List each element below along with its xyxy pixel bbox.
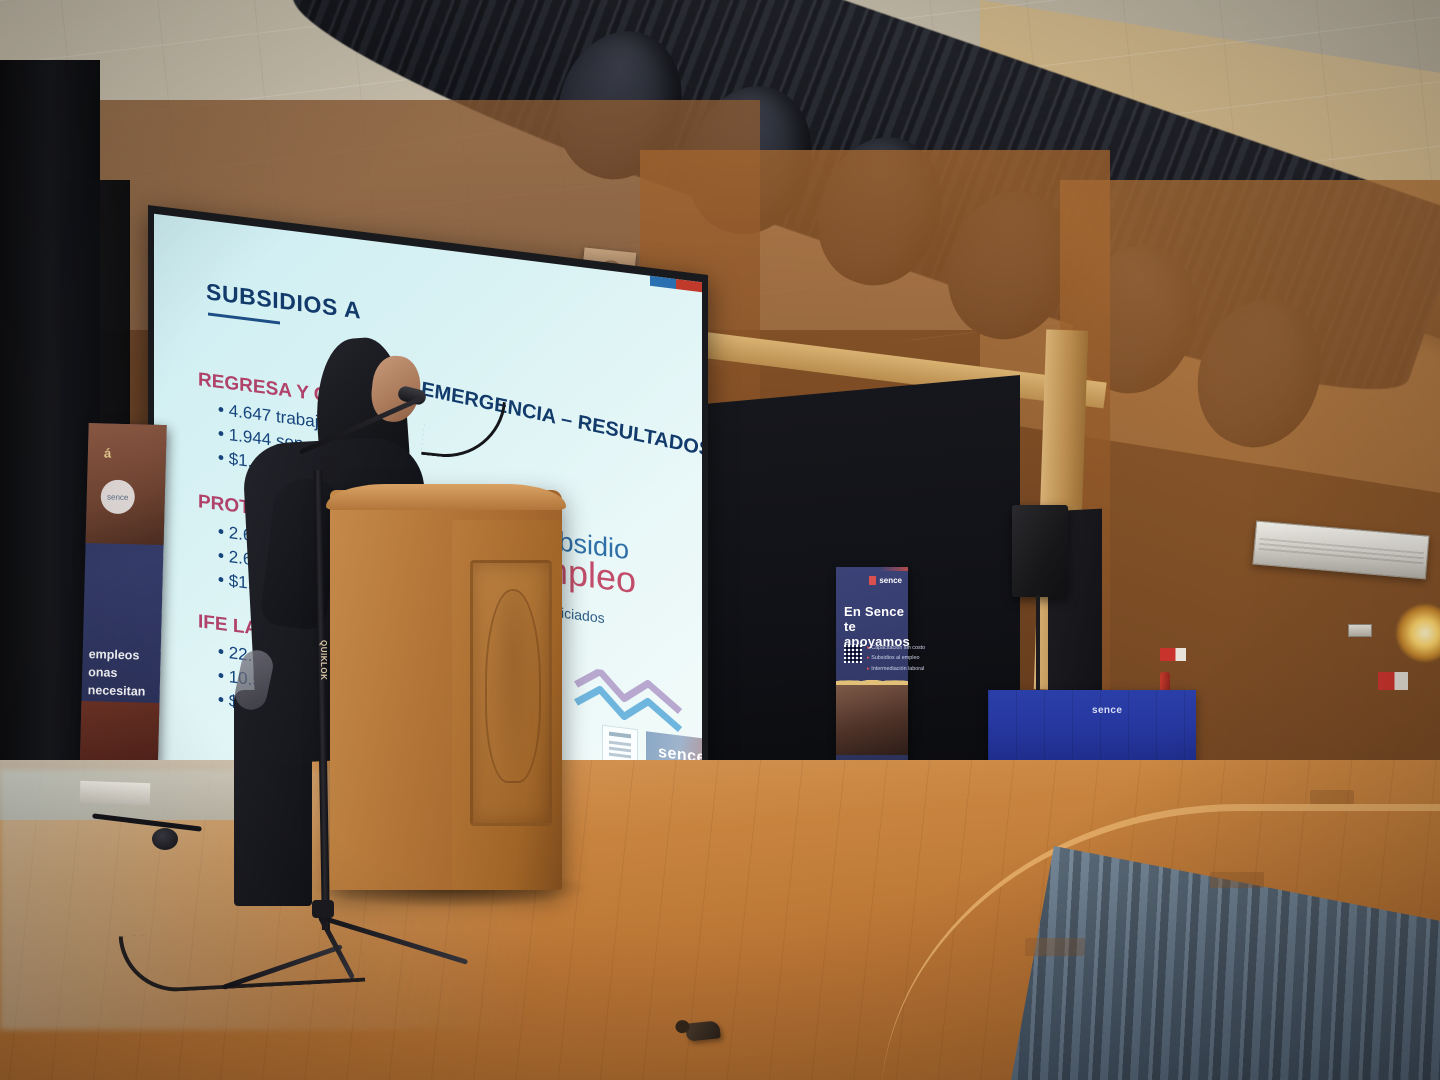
fire-extinguisher-sign <box>1160 648 1186 661</box>
white-floor-block <box>80 781 151 805</box>
flag-red-stripe <box>676 279 702 292</box>
qr-code-icon <box>844 645 862 663</box>
floor-patch <box>1310 790 1354 804</box>
pa-speaker <box>1012 505 1068 597</box>
banner-left-bottom-photo <box>80 701 160 763</box>
banner-left-line-3: necesitan <box>87 681 145 701</box>
banner-right-logo-text: sence <box>879 576 902 585</box>
second-mic-stand-foot <box>152 828 178 850</box>
banner-right-top-rule <box>836 567 908 571</box>
banner-left-line-1: empleos <box>88 645 146 665</box>
microphone-stand-brand: QUIKLOK <box>316 640 328 682</box>
banner-left-accent-text: á <box>104 445 112 460</box>
flag-blue-stripe <box>650 276 676 289</box>
floor-cable-hook <box>685 1020 721 1041</box>
zigzag-decoration-icon <box>574 666 684 734</box>
presentation-photo-scene: SUBSIDIOS A DE EMERGENCIA – RESULTADOS 2… <box>0 0 1440 1080</box>
floor-patch <box>1210 872 1264 888</box>
blue-draped-table <box>988 690 1196 770</box>
floor-patch <box>1025 938 1085 956</box>
banner-left-text: empleos onas necesitan <box>87 645 146 701</box>
rollup-banner-left: á sence empleos onas necesitan <box>79 423 166 785</box>
tripod-hub <box>312 900 334 918</box>
emergency-sign <box>1378 672 1408 690</box>
banner-right-photo <box>836 685 908 755</box>
wall-plate <box>1348 624 1372 637</box>
logo-square-icon <box>869 576 876 585</box>
banner-left-line-2: onas <box>88 663 146 683</box>
banner-right-sence-logo: sence <box>869 576 902 585</box>
chile-flag-accent <box>650 276 702 293</box>
banner-bullet: Capacitación sin costo <box>867 643 925 653</box>
slide-title-rule <box>208 313 280 325</box>
table-sence-logo: sence <box>1092 705 1122 716</box>
banner-right-headline-line1: En Sence <box>844 605 910 620</box>
podium-top <box>326 484 566 510</box>
banner-bullet: Subsidios al empleo <box>867 653 925 663</box>
banner-right-bullets: Capacitación sin costo Subsidios al empl… <box>867 643 925 674</box>
podium-carved-crest <box>470 560 552 826</box>
rollup-banner-right: sence En Sence te apoyamos Capacitación … <box>836 567 908 763</box>
